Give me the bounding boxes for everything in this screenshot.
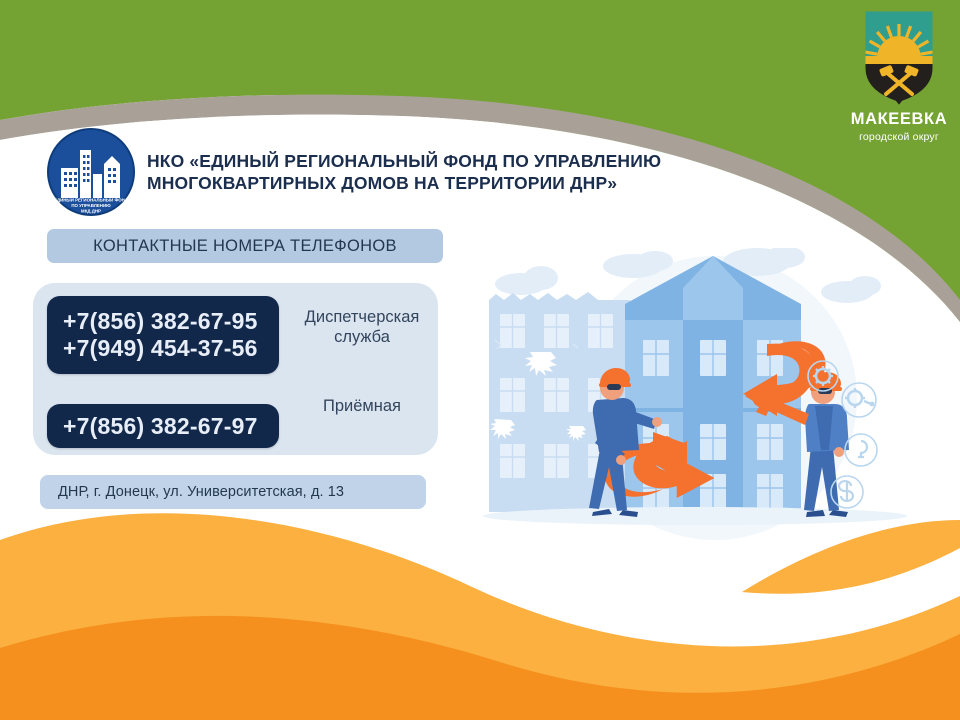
slide-canvas: МАКЕЕВКА городской округ xyxy=(0,0,960,720)
phone-number[interactable]: +7(949) 454-37-56 xyxy=(47,335,258,362)
phone-box-dispatch[interactable]: +7(856) 382-67-95 +7(949) 454-37-56 xyxy=(47,296,279,374)
emblem-subtitle: городской округ xyxy=(859,132,939,143)
organization-title-line-1: НКО «ЕДИНЫЙ РЕГИОНАЛЬНЫЙ ФОНД ПО УПРАВЛЕ… xyxy=(147,151,661,171)
organization-header: ЕДИНЫЙ РЕГИОНАЛЬНЫЙ ФОНД ПО УПРАВЛЕНИЮ М… xyxy=(47,126,707,218)
phone-label-dispatch: Диспетчерская служба xyxy=(287,307,437,347)
logo-caption-line-2: ПО УПРАВЛЕНИЮ xyxy=(71,203,111,208)
logo-caption-line-1: ЕДИНЫЙ РЕГИОНАЛЬНЫЙ ФОНД xyxy=(54,198,129,203)
phone-number[interactable]: +7(856) 382-67-97 xyxy=(47,413,258,440)
organization-title: НКО «ЕДИНЫЙ РЕГИОНАЛЬНЫЙ ФОНД ПО УПРАВЛЕ… xyxy=(147,150,661,195)
address-bar: ДНР, г. Донецк, ул. Университетская, д. … xyxy=(40,475,426,509)
address-text: ДНР, г. Донецк, ул. Университетская, д. … xyxy=(40,484,344,500)
emblem-city-name: МАКЕЕВКА xyxy=(851,111,947,128)
logo-caption-line-3: МКД ДНР xyxy=(81,209,101,214)
buildings-circle-logo-icon: ЕДИНЫЙ РЕГИОНАЛЬНЫЙ ФОНД ПО УПРАВЛЕНИЮ М… xyxy=(47,128,135,216)
phone-label-reception: Приёмная xyxy=(287,396,437,416)
contact-phones-banner: КОНТАКТНЫЕ НОМЕРА ТЕЛЕФОНОВ xyxy=(47,229,443,263)
contact-phones-banner-label: КОНТАКТНЫЕ НОМЕРА ТЕЛЕФОНОВ xyxy=(93,237,397,256)
organization-title-line-2: МНОГОКВАРТИРНЫХ ДОМОВ НА ТЕРРИТОРИИ ДНР» xyxy=(147,172,661,194)
coat-of-arms-shield-icon xyxy=(860,6,938,110)
phone-number[interactable]: +7(856) 382-67-95 xyxy=(47,308,258,335)
bulb-icon xyxy=(845,434,877,466)
phone-label-line-1: Приёмная xyxy=(287,396,437,416)
building-renovation-illustration xyxy=(455,248,935,548)
phone-box-reception[interactable]: +7(856) 382-67-97 xyxy=(47,404,279,448)
phone-label-line-1: Диспетчерская xyxy=(287,307,437,327)
phone-label-line-2: служба xyxy=(287,327,437,347)
makeevka-emblem: МАКЕЕВКА городской округ xyxy=(838,0,960,152)
